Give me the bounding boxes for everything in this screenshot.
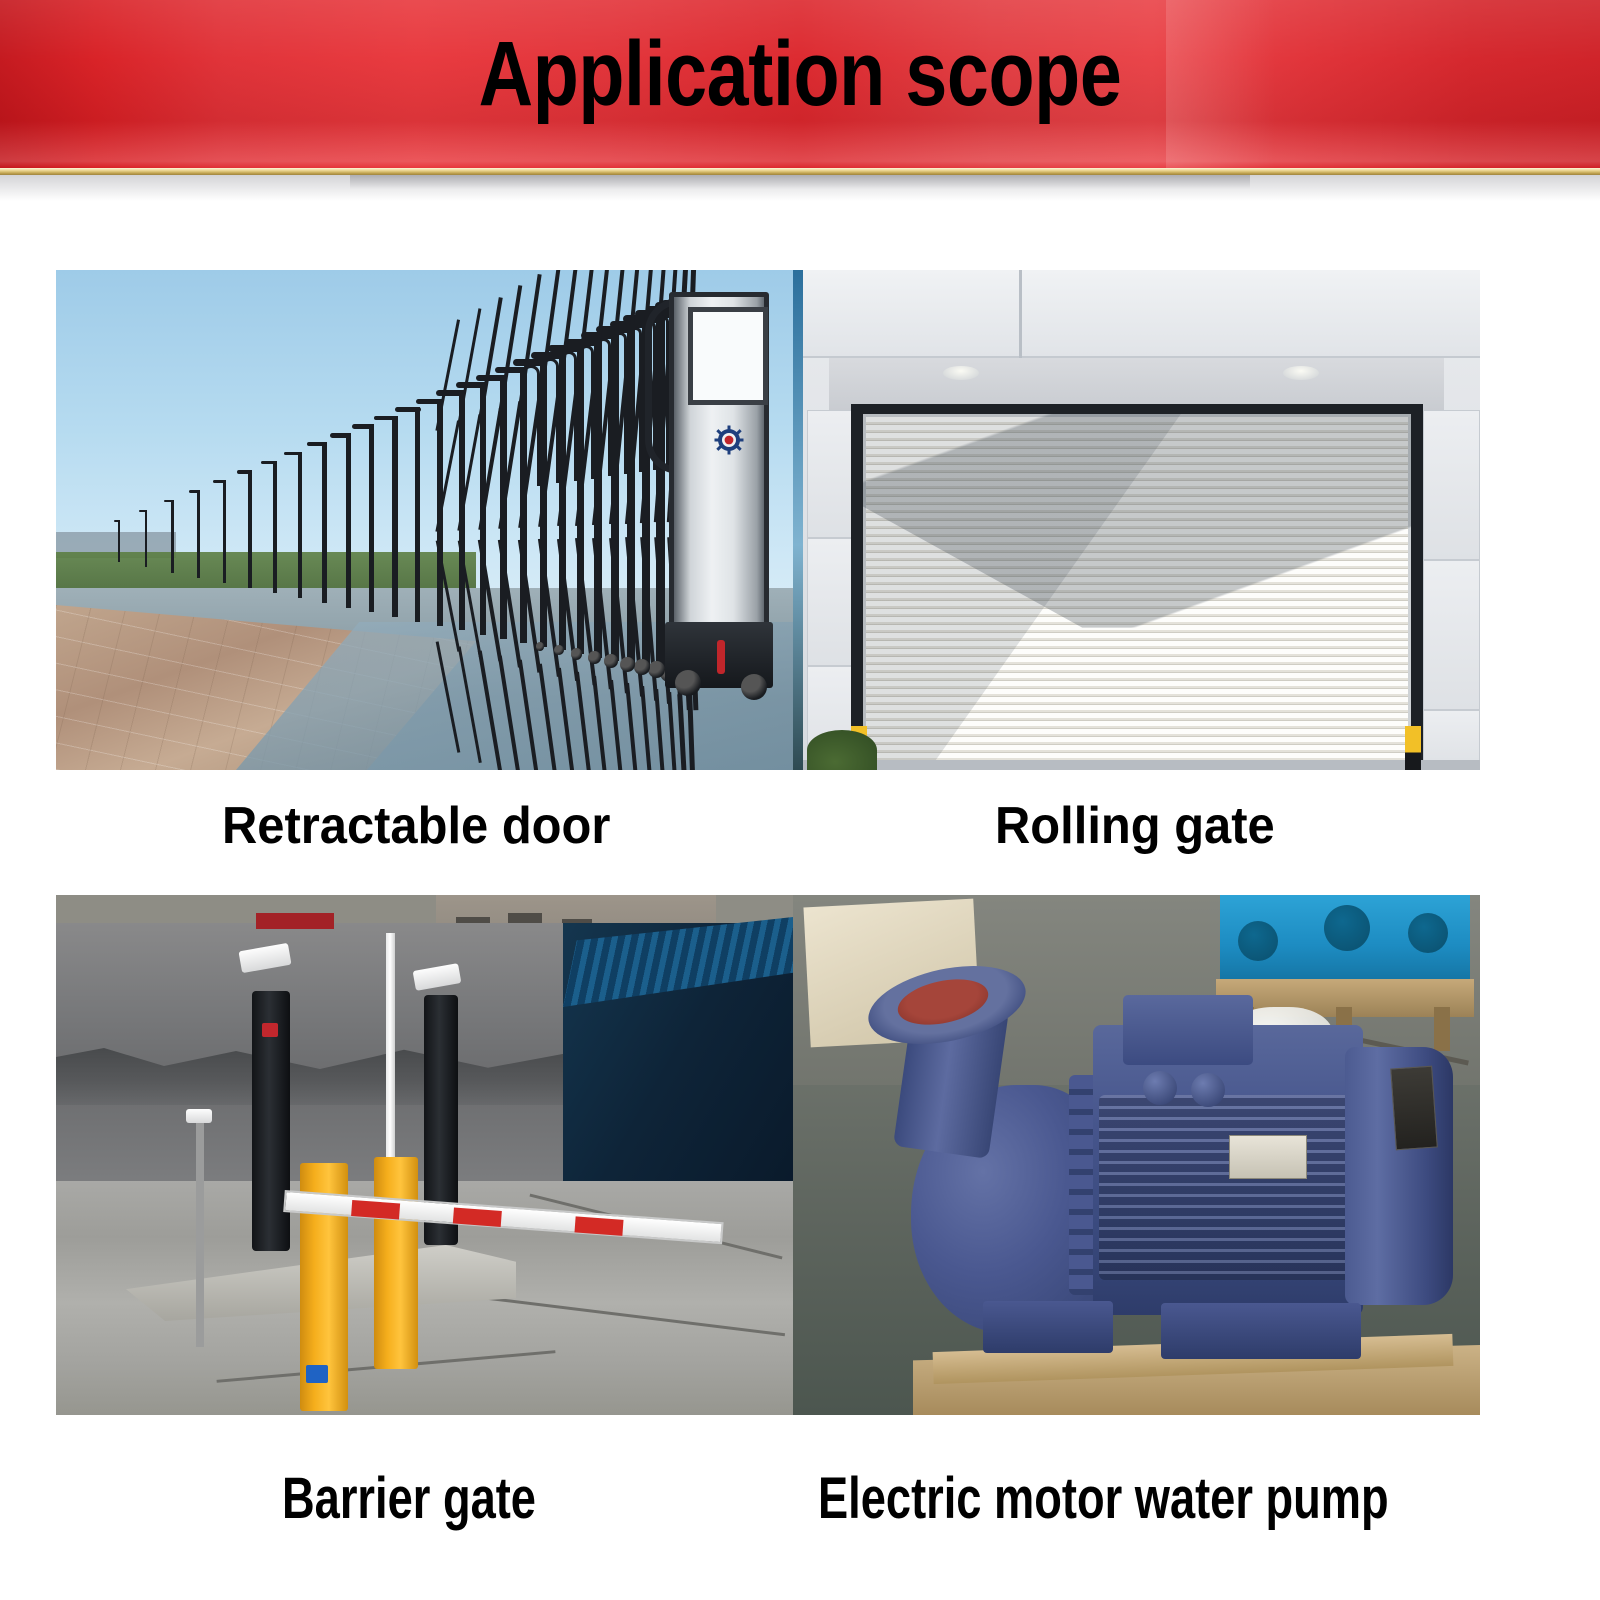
gate-leaf-rail [307,442,326,446]
water-pump-photo [793,895,1480,1415]
sensor-post [196,1117,204,1347]
gate-leaf-rail [213,480,226,483]
gate-leaf-rail [476,375,507,381]
gate-leaf-post [118,520,120,562]
gate-leaf-rail [456,382,486,388]
gate-leaf-rail [237,470,252,473]
caption-retractable-door: Retractable door [222,800,610,852]
gate-leaf-rail [114,520,120,522]
gate-leaf-post [437,399,443,627]
facade-tile-r1 [1423,410,1480,560]
gate-leaf-post [559,352,566,650]
red-sign [256,913,334,929]
gate-leaf-post [459,390,465,630]
column-display-window [688,307,768,405]
ground-line [803,760,1480,770]
gate-leaf-rail [352,424,375,429]
facade-lintel [803,270,1480,358]
gate-leaf-wheel [604,654,618,668]
header-banner: Application scope [0,0,1600,168]
gate-leaf-rail [139,510,147,512]
gate-leaf-rail [374,416,398,421]
gate-control-column [663,292,781,692]
soffit-light-right [1283,366,1319,380]
banner-shadow-wedge [350,175,1250,189]
gate-leaf-post [627,326,635,664]
motor-nameplate [1229,1135,1307,1179]
gate-leaf-post [322,442,327,603]
page-title: Application scope [144,26,1456,123]
gate-leaf-rail [189,490,200,493]
gate-leaf-rail [495,367,528,373]
gate-leaf-rail [284,452,302,456]
foreground-shrub [807,730,877,770]
gate-leaf-wheel [588,651,601,664]
yellow-bollard-right [374,1157,418,1369]
gate-leaf-post [369,424,374,612]
gate-leaf-post [346,433,351,608]
boom-reflector-1 [351,1200,400,1219]
bollard-right [1405,726,1421,770]
white-upright-post [386,933,395,1193]
motor-terminal-box [1123,995,1253,1065]
blue-debris [306,1365,328,1383]
caption-rolling-gate: Rolling gate [995,800,1275,852]
terminal-indicator [262,1023,278,1037]
cable-gland-1 [1143,1071,1177,1105]
gate-leaf-post [540,359,547,646]
column-wheel-right [741,674,767,700]
gate-leaf-post [392,416,397,618]
barrier-gate-photo [56,895,793,1415]
pump-base-foot [983,1301,1113,1353]
gate-leaf-rail [436,390,464,396]
gate-leaf-wheel [620,657,635,672]
gate-leaf-post [223,480,226,583]
boom-reflector-3 [574,1216,623,1235]
gate-leaf-post [298,452,302,599]
door-soffit [829,358,1444,410]
column-wheel-left [675,670,701,696]
motor-rating-label [1390,1066,1438,1151]
gate-leaf-wheel [536,642,545,651]
gate-leaf-post [273,461,277,593]
soffit-light-left [943,366,979,380]
gate-leaf-rail [164,500,174,503]
gate-leaf-post [145,510,147,568]
gate-leaf-post [520,367,527,643]
caption-barrier-gate: Barrier gate [282,1470,536,1528]
facade-panel-seam-1 [1019,270,1022,358]
gate-leaf-rail [416,399,443,404]
gate-leaf-rail [261,461,277,465]
retractable-door-photo [56,270,793,770]
pallet-leg-1 [1434,1007,1450,1051]
gate-leaf-post [197,490,200,578]
sensor-head [186,1109,212,1123]
blue-pump-castings-stack [1220,895,1470,987]
casting-bore-2 [1324,905,1370,951]
gate-leaf-post [415,407,421,622]
gear-logo-icon [714,425,744,455]
gate-leaf-post [611,332,619,661]
gate-leaf-rail [395,407,421,412]
facade-tile-r2 [1423,560,1480,710]
caption-water-pump: Electric motor water pump [818,1470,1389,1528]
banner-gold-rule [0,168,1600,175]
casting-bore-1 [1238,921,1278,961]
cable-gland-2 [1191,1073,1225,1107]
gate-leaf-post [171,500,174,573]
motor-cooling-fins [1099,1095,1357,1280]
gate-leaf-rail [330,433,351,437]
casting-bore-3 [1408,913,1448,953]
column-red-marker [717,640,725,674]
rolling-gate-photo [793,270,1480,770]
gate-leaf-post [248,470,252,588]
application-scope-page: Application scope [0,0,1600,1600]
boom-reflector-2 [453,1207,502,1226]
motor-base-foot [1161,1303,1361,1359]
